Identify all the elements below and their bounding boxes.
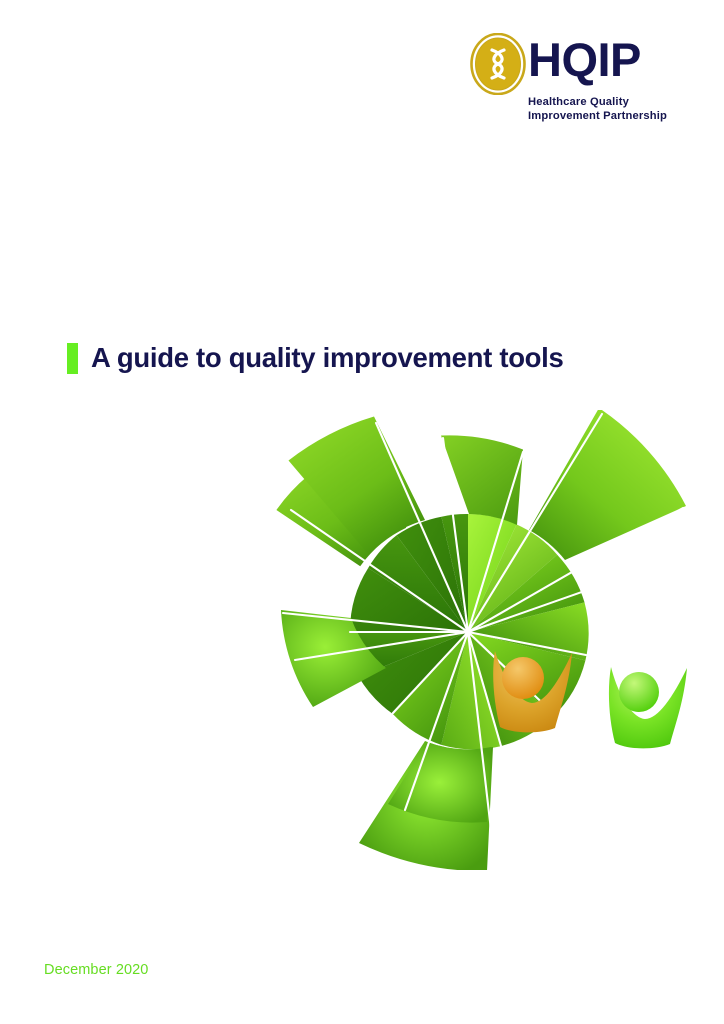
figure-green — [609, 667, 687, 748]
hqip-logo: HQIP Healthcare Quality Improvement Part… — [470, 33, 688, 131]
strapline-line-2: Improvement Partnership — [528, 110, 693, 124]
cover-title-block: A guide to quality improvement tools — [67, 342, 564, 374]
title-accent-bar — [67, 343, 78, 374]
hqip-wordmark: HQIP — [528, 31, 641, 89]
publication-date: December 2020 — [44, 962, 148, 978]
page-title: A guide to quality improvement tools — [91, 342, 564, 374]
cover-page: HQIP Healthcare Quality Improvement Part… — [0, 0, 724, 1024]
pinwheel-burst-illustration — [255, 410, 695, 870]
strapline-line-1: Healthcare Quality — [528, 96, 693, 110]
hqip-strapline: Healthcare Quality Improvement Partnersh… — [528, 96, 693, 123]
hqip-roundel-icon — [470, 33, 526, 95]
logo-primary-row: HQIP — [470, 33, 688, 95]
